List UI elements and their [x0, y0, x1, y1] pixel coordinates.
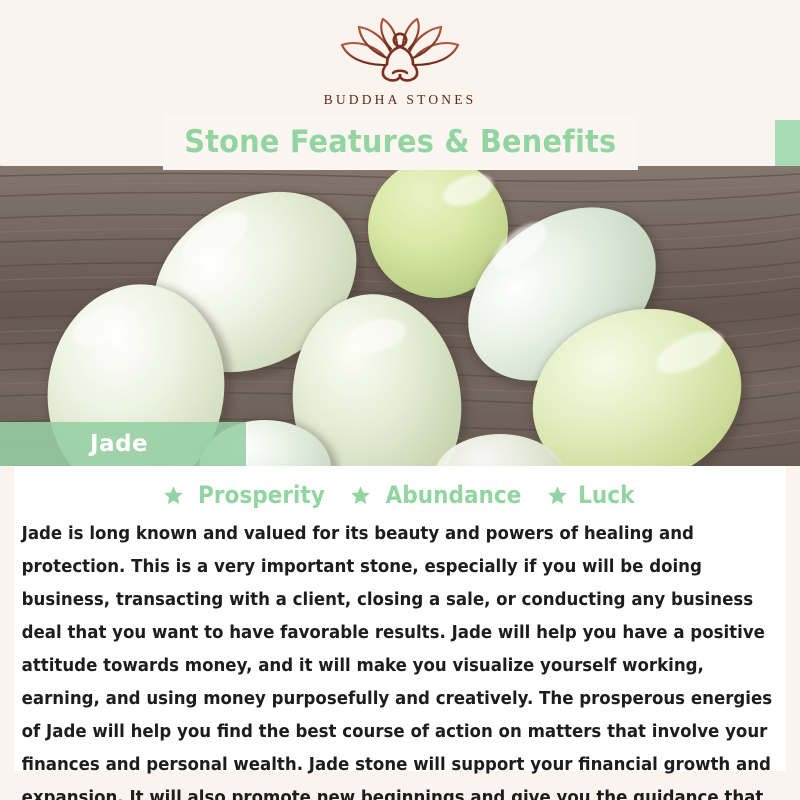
infographic-page: BUDDHA STONES — [0, 0, 800, 800]
content-panel: Prosperity Abundance Luck Jade is long k… — [14, 466, 786, 771]
benefit-item-abundance: Abundance — [350, 481, 529, 509]
stone-name-label: Jade — [90, 431, 148, 457]
benefit-label: Prosperity — [198, 481, 325, 509]
benefit-item-luck: Luck — [547, 481, 638, 509]
benefit-item-prosperity: Prosperity — [163, 481, 332, 509]
brand-header: BUDDHA STONES — [0, 0, 800, 120]
star-icon — [547, 485, 568, 506]
benefit-label: Abundance — [385, 481, 521, 509]
section-title-banner: Stone Features & Benefits — [163, 114, 638, 170]
content-area: Prosperity Abundance Luck Jade is long k… — [0, 466, 800, 800]
benefit-label: Luck — [578, 481, 634, 509]
star-icon — [350, 485, 371, 506]
hero-photo-container — [0, 166, 800, 466]
jade-stones-photo — [0, 166, 800, 466]
lotus-meditation-icon — [334, 18, 466, 88]
stone-description: Jade is long known and valued for its be… — [14, 518, 783, 800]
stone-name-band: Jade — [0, 422, 246, 466]
brand-name: BUDDHA STONES — [324, 92, 477, 108]
page-title: Stone Features & Benefits — [184, 124, 616, 160]
star-icon — [163, 485, 184, 506]
benefits-list: Prosperity Abundance Luck — [14, 476, 786, 514]
